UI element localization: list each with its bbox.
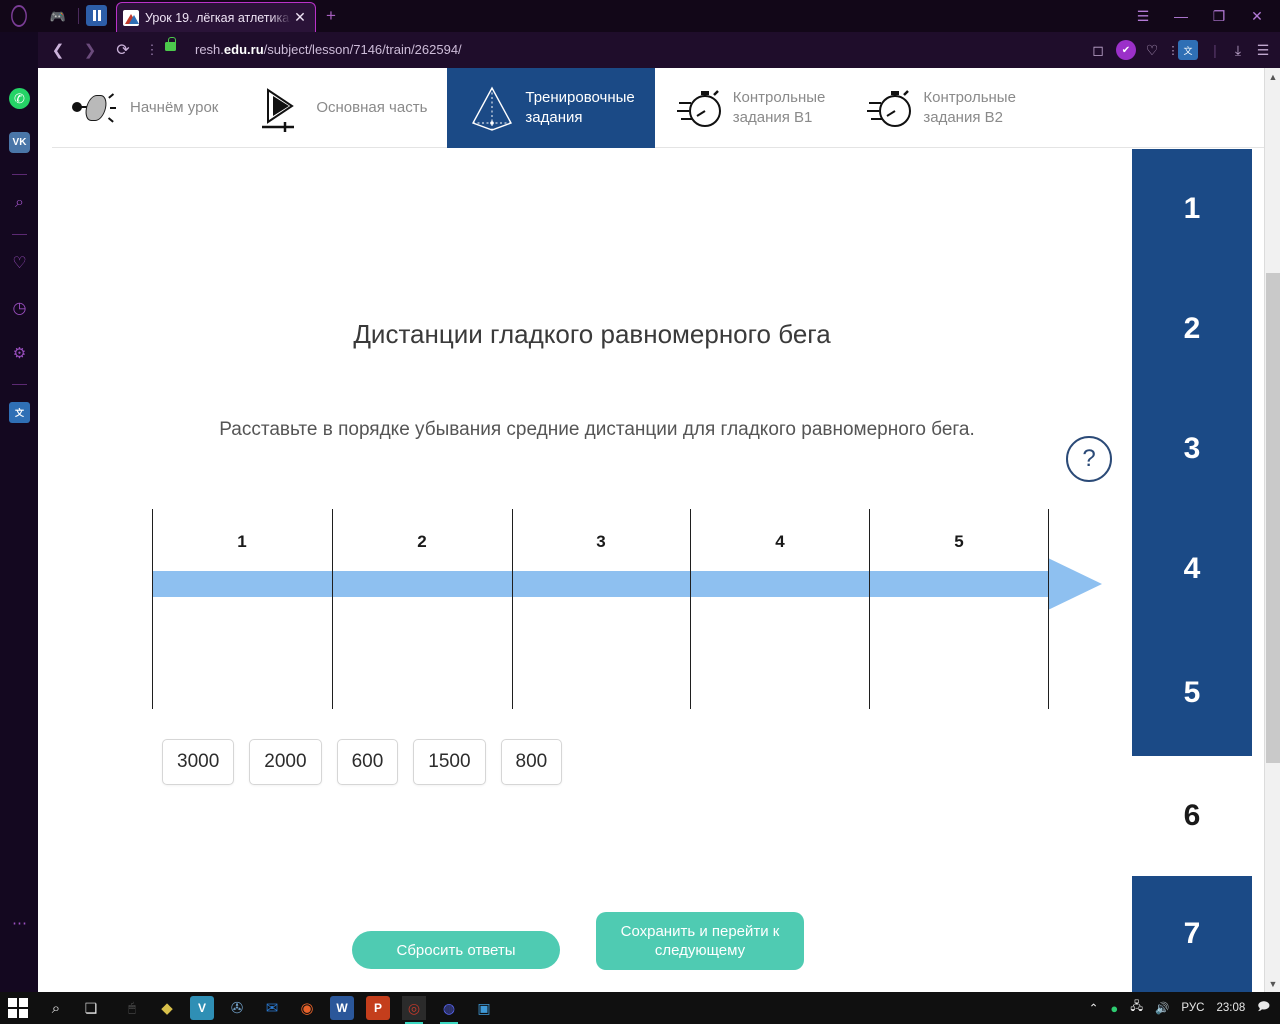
system-tray: ⌃ ● 🖧 🔊 РУС 23:08 🗩	[1089, 992, 1280, 1024]
back-button[interactable]: ❮	[48, 40, 68, 60]
question-button-1[interactable]: 1	[1132, 149, 1252, 269]
answer-tile[interactable]: 800	[501, 739, 563, 785]
lesson-body: Дистанции гладкого равномерного бега Рас…	[52, 149, 1132, 992]
taskbar-vegas-icon[interactable]: V	[190, 996, 214, 1020]
step-tab-label: Начнём урок	[130, 98, 218, 118]
pause-icon[interactable]	[86, 5, 107, 26]
step-tab-training-tasks[interactable]: Тренировочные задания	[447, 68, 654, 148]
question-button-3[interactable]: 3	[1132, 389, 1252, 509]
taskbar-powerpoint-icon[interactable]: P	[366, 996, 390, 1020]
slot-number-3: 3	[571, 532, 631, 552]
taskbar-firefox-icon[interactable]: ◉	[295, 996, 319, 1020]
lesson-step-tabs: Начнём урок Основная часть	[52, 68, 1266, 148]
step-tab-control-b2[interactable]: Контрольные задания В2	[845, 68, 1036, 148]
snapshot-icon[interactable]: ◻	[1088, 40, 1108, 60]
scrollbar-thumb[interactable]	[1266, 273, 1280, 763]
stopwatch-icon-svg	[675, 83, 725, 133]
step-tab-label: Тренировочные задания	[525, 88, 634, 128]
stopwatch-icon	[865, 83, 915, 133]
vk-icon[interactable]: VK	[9, 132, 30, 153]
more-icon[interactable]: ⋯	[9, 912, 30, 933]
question-button-2[interactable]: 2	[1132, 269, 1252, 389]
question-button-7[interactable]: 7	[1132, 876, 1252, 992]
address-bar[interactable]: resh.edu.ru/subject/lesson/7146/train/26…	[195, 32, 462, 68]
answer-tile-tray: 3000 2000 600 1500 800	[162, 739, 862, 785]
taskbar-mail-icon[interactable]: ✉	[260, 996, 284, 1020]
page-scrollbar[interactable]: ▲ ▼	[1264, 68, 1280, 992]
scroll-down-button[interactable]: ▼	[1265, 975, 1280, 992]
browser-navbar: ❮ ❯ ⟳ ⋮ resh.edu.ru/subject/lesson/7146/…	[0, 32, 1280, 68]
toolbar-divider: |	[1205, 40, 1225, 60]
titlebar-divider	[78, 8, 79, 24]
reset-answers-button[interactable]: Сбросить ответы	[352, 931, 560, 969]
rail-divider	[12, 384, 27, 385]
taskbar-mouse-icon[interactable]: 🖱	[120, 996, 144, 1020]
translate-icon[interactable]: 文	[9, 402, 30, 423]
page-viewport: Начнём урок Основная часть	[38, 68, 1280, 992]
window-controls: ☰ — ❐ ✕	[1124, 0, 1276, 32]
play-icon-svg	[258, 83, 308, 133]
lock-icon	[165, 42, 176, 51]
tray-clock[interactable]: 23:08	[1216, 1002, 1245, 1014]
play-icon	[258, 83, 308, 133]
minimize-button[interactable]: —	[1162, 0, 1200, 32]
question-button-6[interactable]: 6	[1132, 756, 1252, 876]
stopwatch-icon	[675, 83, 725, 133]
taskbar-opera-icon[interactable]: ◎	[402, 996, 426, 1020]
new-tab-button[interactable]: +	[322, 7, 340, 25]
step-tab-label: Контрольные задания В2	[923, 88, 1016, 128]
tray-notifications-icon[interactable]: 🗩	[1257, 999, 1270, 1018]
question-number-rail: 1 2 3 4 5 6 7	[1132, 149, 1252, 992]
stopwatch-icon-svg	[865, 83, 915, 133]
opera-sidebar: ✆ VK ⌕ ♡ ◷ ⚙ 文 ⋯	[0, 32, 38, 992]
step-tab-control-b1[interactable]: Контрольные задания В1	[655, 68, 846, 148]
rail-divider	[12, 234, 27, 235]
page-menu-icon[interactable]: ⋮	[142, 40, 162, 60]
rail-divider	[12, 174, 27, 175]
page-title: Дистанции гладкого равномерного бега	[52, 319, 1132, 350]
tray-volume-icon[interactable]: 🔊	[1155, 1001, 1169, 1015]
tab-favicon-icon	[123, 10, 139, 26]
pyramid-icon	[467, 83, 517, 133]
answer-tile[interactable]: 600	[337, 739, 399, 785]
task-prompt: Расставьте в порядке убывания средние ди…	[197, 414, 997, 445]
history-clock-icon[interactable]: ◷	[9, 297, 30, 318]
url-domain: edu.ru	[224, 42, 264, 57]
step-tab-label: Контрольные задания В1	[733, 88, 826, 128]
answer-tile[interactable]: 2000	[249, 739, 321, 785]
browser-tab[interactable]: Урок 19. лёгкая атлетика: ✕	[116, 2, 316, 32]
whatsapp-icon[interactable]: ✆	[9, 88, 30, 109]
tray-network-icon[interactable]: 🖧	[1130, 999, 1143, 1018]
slot-number-2: 2	[392, 532, 452, 552]
url-prefix: resh.	[195, 42, 224, 57]
question-button-4[interactable]: 4	[1132, 509, 1252, 629]
step-tab-main-part[interactable]: Основная часть	[238, 68, 447, 148]
windows-taskbar: ⌕ ❏ 🖱 ◆ V ✇ ✉ ◉ W P ◎ ◍ ▣ ⌃ ● 🖧 🔊 РУС 23…	[0, 992, 1280, 1024]
save-and-next-button[interactable]: Сохранить и перейти к следующему	[596, 912, 804, 970]
taskbar-word-icon[interactable]: W	[330, 996, 354, 1020]
restore-button[interactable]: ❐	[1200, 0, 1238, 32]
page-content: Начнём урок Основная часть	[52, 68, 1266, 992]
heart-icon[interactable]: ♡	[9, 252, 30, 273]
tray-chevron-icon[interactable]: ⌃	[1089, 1001, 1099, 1015]
forward-button[interactable]: ❯	[80, 40, 100, 60]
shield-icon[interactable]: ✔	[1116, 40, 1136, 60]
translate-icon[interactable]: 文	[1178, 40, 1198, 60]
gamepad-icon[interactable]: 🎮	[48, 6, 68, 26]
slot-number-4: 4	[750, 532, 810, 552]
download-icon[interactable]: ⤓	[1228, 40, 1248, 60]
opera-logo-icon[interactable]	[11, 5, 27, 27]
heart-icon[interactable]: ♡	[1142, 40, 1162, 60]
help-icon[interactable]: ?	[1066, 436, 1112, 482]
browser-titlebar: 🎮 Урок 19. лёгкая атлетика: ✕ + ☰ — ❐ ✕	[0, 0, 1280, 32]
start-button[interactable]	[8, 998, 28, 1018]
tab-title: Урок 19. лёгкая атлетика:	[145, 11, 291, 25]
megaphone-icon	[72, 83, 122, 133]
step-tab-start-lesson[interactable]: Начнём урок	[52, 68, 238, 148]
taskbar-search-icon[interactable]: ⌕	[44, 996, 68, 1020]
slot-number-5: 5	[929, 532, 989, 552]
browser-window: 🎮 Урок 19. лёгкая атлетика: ✕ + ☰ — ❐ ✕ …	[0, 0, 1280, 992]
taskbar-steam-icon[interactable]: ✇	[225, 996, 249, 1020]
taskbar-discord-icon[interactable]: ◍	[437, 996, 461, 1020]
reload-button[interactable]: ⟳	[113, 40, 133, 60]
search-icon[interactable]: ⌕	[9, 192, 30, 213]
answer-tile[interactable]: 3000	[162, 739, 234, 785]
answer-tile[interactable]: 1500	[413, 739, 485, 785]
taskbar-sublime-icon[interactable]: ◆	[155, 996, 179, 1020]
url-path: /subject/lesson/7146/train/262594/	[264, 42, 462, 57]
close-window-button[interactable]: ✕	[1238, 0, 1276, 32]
gear-icon[interactable]: ⚙	[9, 342, 30, 363]
tray-status-dot-icon[interactable]: ●	[1110, 1001, 1118, 1016]
taskbar-taskview-icon[interactable]: ❏	[79, 996, 103, 1020]
taskbar-monitor-icon[interactable]: ▣	[472, 996, 496, 1020]
pyramid-icon-svg	[467, 83, 517, 133]
timeline-arrowhead-icon	[1048, 558, 1102, 610]
slot-number-1: 1	[212, 532, 272, 552]
close-tab-button[interactable]: ✕	[291, 9, 309, 26]
question-button-5[interactable]: 5	[1132, 629, 1252, 756]
ordering-timeline: 1 2 3 4 5	[152, 509, 1112, 714]
step-tab-label: Основная часть	[316, 98, 427, 118]
scroll-up-button[interactable]: ▲	[1265, 68, 1280, 85]
window-menu-button[interactable]: ☰	[1124, 0, 1162, 32]
easy-setup-icon[interactable]: ☰	[1253, 40, 1273, 60]
tray-language-indicator[interactable]: РУС	[1181, 1002, 1204, 1014]
